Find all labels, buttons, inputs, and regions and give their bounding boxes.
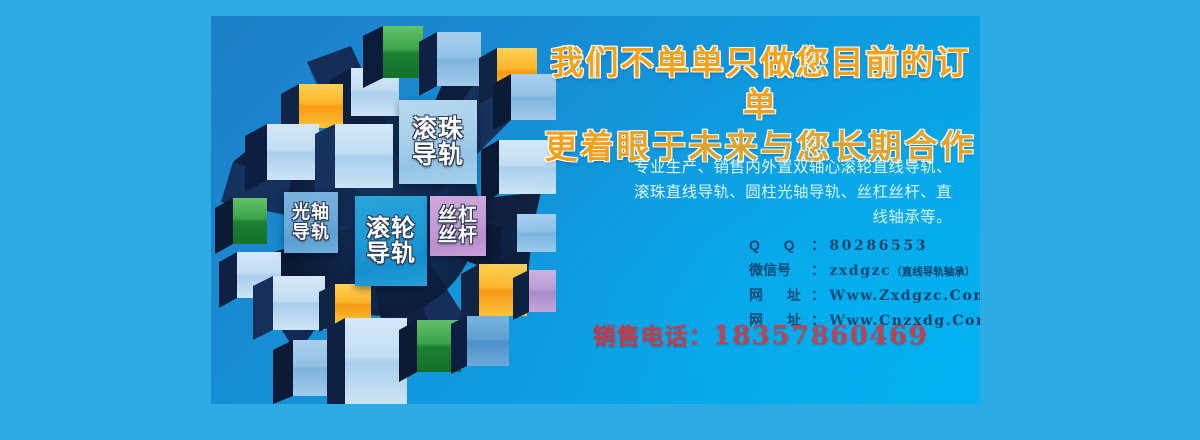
banner-text-column: 我们不单单只做您目前的订单 更着眼于未来与您长期合作 专业生产、销售内外置双轴心… xyxy=(541,16,980,404)
contact-row-wechat: 微信号 ： zxdgzc （直线导轨轴承） xyxy=(749,258,980,283)
label-box-optical-shaft-guide-line2: 导轨 xyxy=(292,223,330,242)
description-text: 专业生产、销售内外置双轴心滚轮直线导轨、 滚珠直线导轨、圆柱光轴导轨、丝杠丝杆、… xyxy=(569,155,952,230)
contact-colon-website-1: ： xyxy=(811,283,825,307)
description-line2: 滚珠直线导轨、圆柱光轴导轨、丝杠丝杆、直 xyxy=(569,180,952,205)
headline: 我们不单单只做您目前的订单 更着眼于未来与您长期合作 xyxy=(541,42,980,169)
banner-page: 滚珠 导轨 光轴 导轨 滚轮 导轨 丝杠 丝杆 我们不单单只做您目前的订单 更着… xyxy=(0,0,1200,440)
promo-banner: 滚珠 导轨 光轴 导轨 滚轮 导轨 丝杠 丝杆 我们不单单只做您目前的订单 更着… xyxy=(211,16,980,404)
sales-phone-label: 销售电话： xyxy=(593,323,713,349)
label-box-optical-shaft-guide: 光轴 导轨 xyxy=(284,192,338,253)
sales-phone-number[interactable]: 18357860469 xyxy=(713,321,929,351)
contact-label-website-1: 网 址 xyxy=(749,283,811,307)
contact-value-qq[interactable]: 80286553 xyxy=(829,234,928,258)
label-box-optical-shaft-guide-line1: 光轴 xyxy=(292,203,330,222)
label-box-roller-guide-line2: 导轨 xyxy=(366,241,416,266)
contact-label-wechat: 微信号 xyxy=(749,258,811,282)
contact-row-qq: Q Q ： 80286553 xyxy=(749,233,980,258)
headline-line1: 我们不单单只做您目前的订单 xyxy=(541,42,980,126)
sales-phone: 销售电话：18357860469 xyxy=(541,317,980,351)
label-box-ball-guide-line1: 滚珠 xyxy=(412,116,464,143)
contact-value-wechat[interactable]: zxdgzc xyxy=(829,259,891,283)
label-box-lead-screw-line1: 丝杠 xyxy=(438,206,478,226)
contact-colon-wechat: ： xyxy=(811,258,825,282)
contact-row-website-1: 网 址 ： Www.Zxdgzc.Com xyxy=(749,283,980,308)
contact-label-qq: Q Q xyxy=(749,233,811,257)
contact-note-wechat: （直线导轨轴承） xyxy=(891,263,975,281)
label-box-ball-guide: 滚珠 导轨 xyxy=(399,100,477,184)
description-line1: 专业生产、销售内外置双轴心滚轮直线导轨、 xyxy=(569,155,952,180)
label-box-roller-guide: 滚轮 导轨 xyxy=(355,196,427,286)
label-box-roller-guide-line1: 滚轮 xyxy=(366,216,416,241)
label-box-ball-guide-line2: 导轨 xyxy=(412,142,464,169)
label-box-lead-screw-line2: 丝杆 xyxy=(438,226,478,246)
description-line3: 线轴承等。 xyxy=(569,205,952,230)
contact-value-website-1[interactable]: Www.Zxdgzc.Com xyxy=(829,284,980,308)
label-box-lead-screw: 丝杠 丝杆 xyxy=(430,196,486,256)
contact-colon-qq: ： xyxy=(811,233,825,257)
